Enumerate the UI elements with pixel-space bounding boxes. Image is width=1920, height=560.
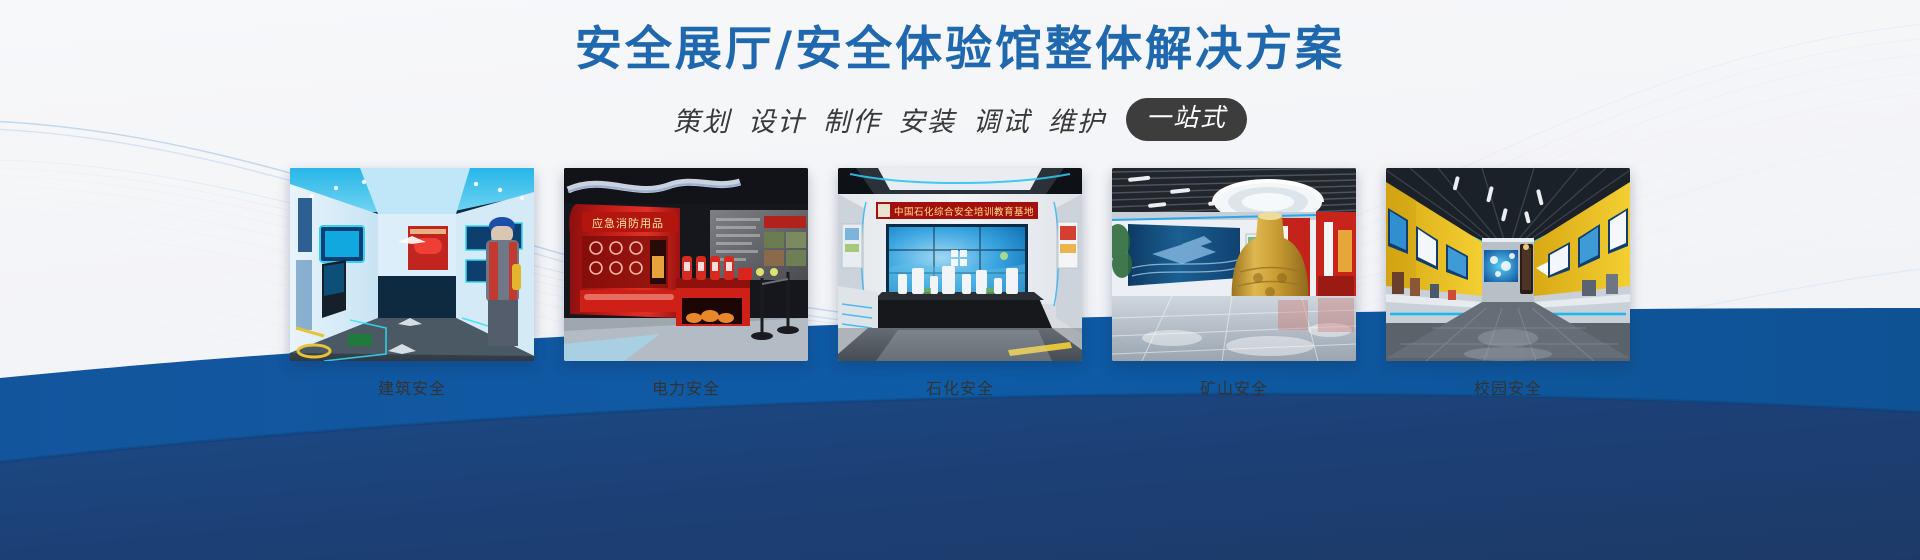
gallery-caption-construction: 建筑安全 — [378, 375, 446, 399]
svg-text:应急消防用品: 应急消防用品 — [592, 216, 664, 230]
electric-safety-hall-image: 应急消防用品 — [564, 168, 808, 361]
construction-safety-hall-image — [290, 168, 534, 361]
banner-content: 安全展厅/安全体验馆整体解决方案 策划 设计 制作 安装 调试 维护 一站式 — [0, 0, 1920, 560]
gallery-caption-campus: 校园安全 — [1474, 375, 1542, 399]
service-step-0: 策划 — [673, 100, 731, 139]
thumbnail-mining[interactable] — [1112, 168, 1356, 361]
campus-safety-hall-image — [1386, 168, 1630, 361]
gallery-caption-electric: 电力安全 — [652, 375, 720, 399]
svg-text:中国石化综合安全培训教育基地: 中国石化综合安全培训教育基地 — [894, 206, 1034, 218]
gallery-caption-mining: 矿山安全 — [1200, 375, 1268, 399]
service-step-2: 制作 — [823, 100, 881, 139]
one-stop-badge: 一站式 — [1126, 98, 1247, 141]
gallery-item-mining[interactable]: 矿山安全 — [1112, 168, 1356, 399]
thumbnail-electric[interactable]: 应急消防用品 — [564, 168, 808, 361]
page-title: 安全展厅/安全体验馆整体解决方案 — [575, 24, 1345, 76]
gallery-item-construction[interactable]: 建筑安全 — [290, 168, 534, 399]
service-step-4: 调试 — [973, 100, 1031, 139]
gallery-caption-petrochemical: 石化安全 — [926, 375, 994, 399]
safety-exhibition-banner: 安全展厅/安全体验馆整体解决方案 策划 设计 制作 安装 调试 维护 一站式 — [0, 0, 1920, 560]
mining-safety-hall-image — [1112, 168, 1356, 361]
gallery-item-electric[interactable]: 应急消防用品 — [564, 168, 808, 399]
gallery-item-campus[interactable]: 校园安全 — [1386, 168, 1630, 399]
service-step-5: 维护 — [1048, 100, 1106, 139]
showcase-gallery: 建筑安全 — [290, 168, 1630, 399]
gallery-item-petrochemical[interactable]: 中国石化综合安全培训教育基地 — [838, 168, 1082, 399]
thumbnail-construction[interactable] — [290, 168, 534, 361]
service-step-1: 设计 — [748, 100, 806, 139]
petrochemical-safety-hall-image: 中国石化综合安全培训教育基地 — [838, 168, 1082, 361]
service-step-3: 安装 — [898, 100, 956, 139]
thumbnail-petrochemical[interactable]: 中国石化综合安全培训教育基地 — [838, 168, 1082, 361]
service-steps: 策划 设计 制作 安装 调试 维护 一站式 — [673, 98, 1247, 141]
thumbnail-campus[interactable] — [1386, 168, 1630, 361]
